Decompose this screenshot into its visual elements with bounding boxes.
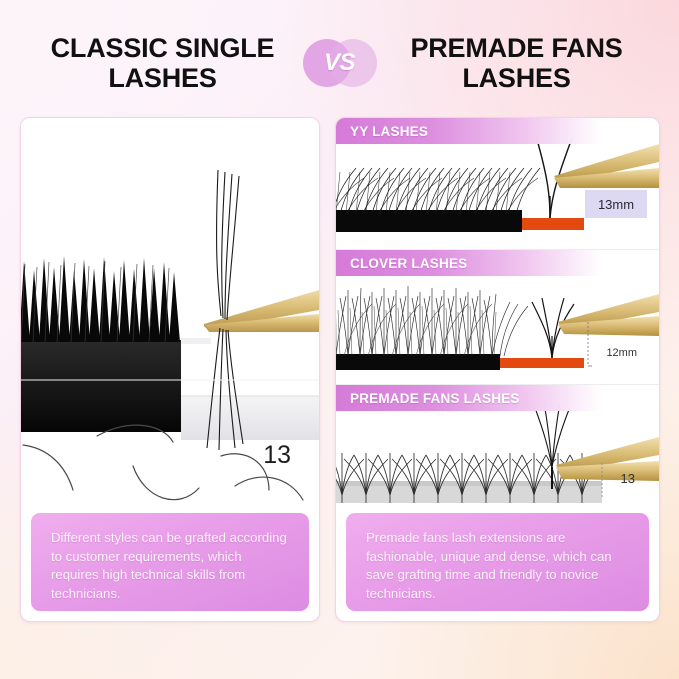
clover-lashes-ribbon: CLOVER LASHES (336, 250, 659, 276)
premade-fans-measure: 13 (621, 471, 635, 486)
premade-fans-section: PREMADE FANS LASHES (336, 385, 659, 511)
clover-lashes-section: CLOVER LASHES (336, 250, 659, 385)
yy-lashes-title: YY LASHES (336, 124, 428, 139)
premade-fans-caption: Premade fans lash extensions are fashion… (346, 513, 649, 611)
classic-lashes-caption: Different styles can be grafted accordin… (31, 513, 309, 611)
premade-fans-title: PREMADE FANS LASHES (336, 391, 520, 406)
yy-lashes-measure: 13mm (585, 190, 647, 218)
comparison-infographic: CLASSIC SINGLE LASHES VS PREMADE FANS LA… (0, 0, 679, 679)
premade-fans-ribbon: PREMADE FANS LASHES (336, 385, 659, 411)
classic-lashes-photo: 13 (21, 118, 319, 513)
left-panel-title: CLASSIC SINGLE LASHES (31, 33, 303, 93)
yy-lashes-section: YY LASHES (336, 118, 659, 250)
clover-lashes-title: CLOVER LASHES (336, 256, 467, 271)
right-panel-title: PREMADE FANS LASHES (377, 33, 649, 93)
premade-fans-lashes-card: YY LASHES (335, 117, 660, 622)
classic-single-lashes-card: 13 Different styles can be grafted accor… (20, 117, 320, 622)
yy-lashes-ribbon: YY LASHES (336, 118, 659, 144)
classic-length-label: 13 (263, 441, 291, 470)
clover-lashes-measure: 12mm (606, 347, 637, 359)
vs-label: VS (324, 49, 355, 77)
vs-badge: VS (303, 35, 377, 91)
header: CLASSIC SINGLE LASHES VS PREMADE FANS LA… (0, 22, 679, 104)
